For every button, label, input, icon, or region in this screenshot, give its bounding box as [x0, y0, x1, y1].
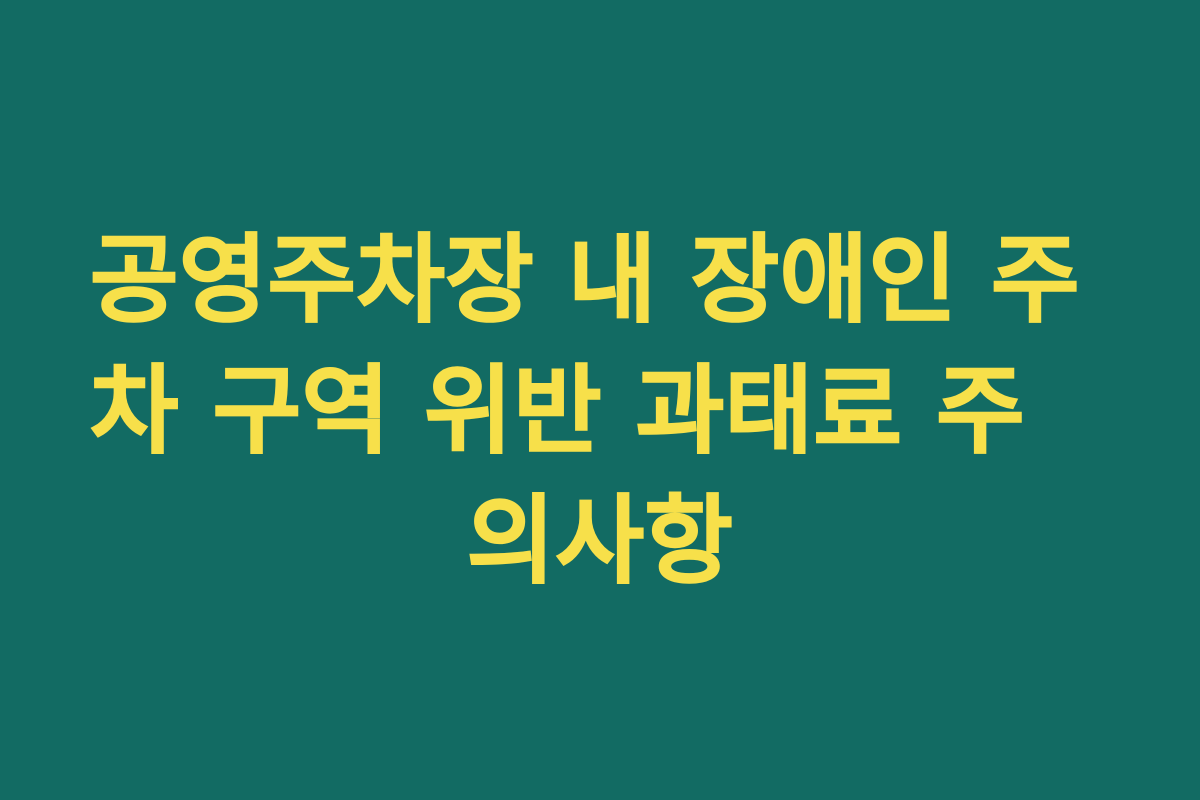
- headline-line-3: 의사항: [90, 476, 1110, 607]
- headline-line-2: 차 구역 위반 과태료 주: [90, 346, 1110, 477]
- headline-block: 공영주차장 내 장애인 주 차 구역 위반 과태료 주 의사항: [80, 215, 1120, 607]
- page-title: 공영주차장 내 장애인 주 차 구역 위반 과태료 주 의사항: [90, 215, 1110, 607]
- poster-canvas: 공영주차장 내 장애인 주 차 구역 위반 과태료 주 의사항: [0, 0, 1200, 800]
- headline-line-1: 공영주차장 내 장애인 주: [90, 215, 1110, 346]
